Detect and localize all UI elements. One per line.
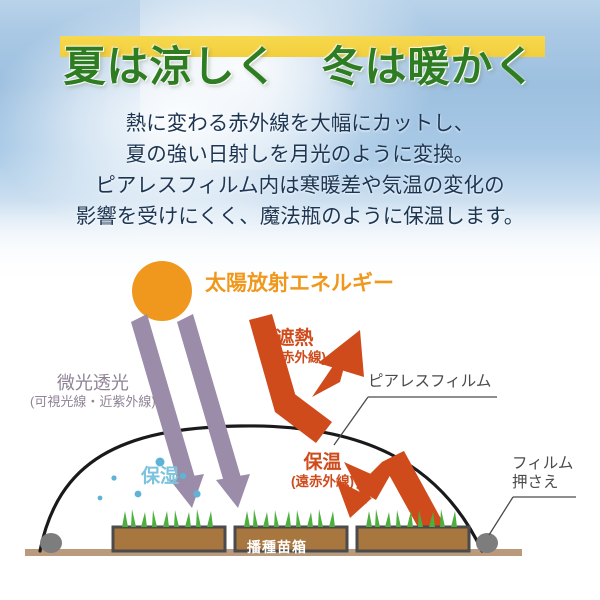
greenhouse-diagram: 太陽放射エネルギー 遮熱 (近赤外線) 保温 (遠赤外線) 微光透光 (可視光線… xyxy=(0,246,600,600)
infographic-root: 夏は涼しく 冬は暖かく 熱に変わる赤外線を大幅にカットし、 夏の強い日射しを月光… xyxy=(0,0,600,600)
clamp-callout-label-group: フィルム 押さえ xyxy=(512,454,573,492)
clamp-callout-line2: 押さえ xyxy=(512,473,573,492)
clamp-callout-line1: フィルム xyxy=(512,454,573,473)
lead-line-3: ピアレスフィルム内は寒暖差や気温の変化の xyxy=(0,170,600,201)
transmission-sublabel: (可視光線・近紫外線) xyxy=(30,394,156,409)
sprout-icon xyxy=(122,509,213,527)
heat-shield-label: 遮熱 xyxy=(263,328,326,350)
sprout-icon-2 xyxy=(244,509,335,527)
sun-circle-icon xyxy=(132,261,192,321)
headline-wrapper: 夏は涼しく 冬は暖かく xyxy=(0,36,600,98)
heat-shield-sublabel: (近赤外線) xyxy=(263,350,326,366)
lead-line-2: 夏の強い日射しを月光のように変換。 xyxy=(0,139,600,170)
seed-tray-label: 播種苗箱 xyxy=(232,537,322,557)
seed-tray-1 xyxy=(113,509,225,551)
transmission-label: 微光透光 xyxy=(30,373,156,394)
film-callout-leader xyxy=(334,397,497,445)
heat-retain-sublabel: (遠赤外線) xyxy=(291,474,354,490)
heat-shield-label-group: 遮熱 (近赤外線) xyxy=(263,328,326,366)
lead-line-4: 影響を受けにくく、魔法瓶のように保温します。 xyxy=(0,201,600,232)
lead-line-1: 熱に変わる赤外線を大幅にカットし、 xyxy=(0,108,600,139)
lead-paragraph: 熱に変わる赤外線を大幅にカットし、 夏の強い日射しを月光のように変換。 ピアレス… xyxy=(0,108,600,232)
solar-energy-label: 太陽放射エネルギー xyxy=(205,272,394,297)
heat-retain-label-group: 保温 (遠赤外線) xyxy=(291,452,354,490)
film-callout-label: ピアレスフィルム xyxy=(368,373,491,391)
clamp-callout-leader xyxy=(489,497,576,535)
transmission-label-group: 微光透光 (可視光線・近紫外線) xyxy=(30,373,156,410)
page-title: 夏は涼しく 冬は暖かく xyxy=(0,36,600,98)
heat-retain-label: 保温 xyxy=(291,452,354,474)
humidity-label: 保湿 xyxy=(141,466,179,488)
